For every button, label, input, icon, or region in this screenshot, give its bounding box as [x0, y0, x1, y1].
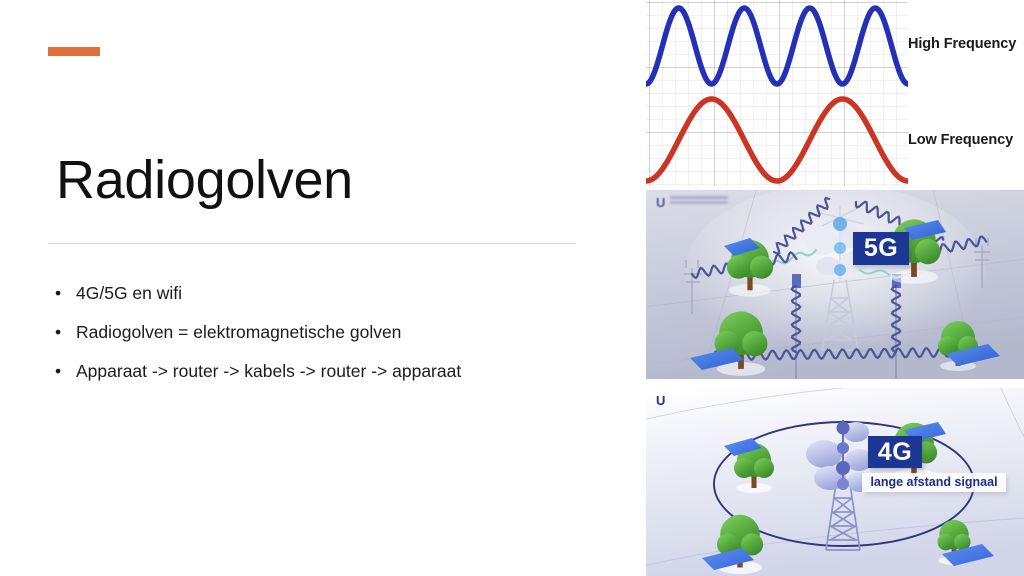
caption-long-distance-signal: lange afstand signaal [862, 473, 1006, 492]
bullet-marker-icon: • [55, 359, 61, 383]
title-divider [48, 243, 576, 244]
legend-label-high-frequency: High Frequency [908, 36, 1016, 52]
chart-plot-area [646, 0, 908, 186]
list-item-text: Apparaat -> router -> kabels -> router -… [76, 359, 548, 383]
5g-illustration-svg [646, 190, 1024, 379]
list-item-text: 4G/5G en wifi [76, 281, 548, 305]
list-item: • 4G/5G en wifi [48, 281, 548, 305]
badge-4g: 4G [868, 436, 922, 468]
wave-plot-svg [646, 0, 908, 186]
media-column: High Frequency Low Frequency [640, 0, 1024, 576]
watermark-logo-icon: U [656, 196, 665, 209]
watermark-logo-text [670, 196, 728, 206]
image-5g-network: U 5G [646, 190, 1024, 379]
frequency-comparison-chart: High Frequency Low Frequency [646, 0, 1024, 186]
list-item-text: Radiogolven = elektromagnetische golven [76, 320, 548, 344]
image-4g-network: U 4G lange afstand signaal [646, 388, 1024, 576]
low-frequency-wave [646, 99, 908, 181]
high-frequency-wave [646, 8, 908, 84]
title-accent-bar [48, 47, 100, 56]
bullet-list: • 4G/5G en wifi • Radiogolven = elektrom… [48, 281, 548, 383]
badge-5g: 5G [853, 232, 909, 265]
legend-label-low-frequency: Low Frequency [908, 132, 1013, 148]
watermark-logo-icon: U [656, 394, 665, 407]
page-title: Radiogolven [56, 150, 596, 210]
list-item: • Apparaat -> router -> kabels -> router… [48, 359, 548, 383]
bullet-marker-icon: • [55, 281, 61, 305]
presentation-slide: Radiogolven • 4G/5G en wifi • Radiogolve… [0, 0, 1024, 576]
list-item: • Radiogolven = elektromagnetische golve… [48, 320, 548, 344]
bullet-marker-icon: • [55, 320, 61, 344]
